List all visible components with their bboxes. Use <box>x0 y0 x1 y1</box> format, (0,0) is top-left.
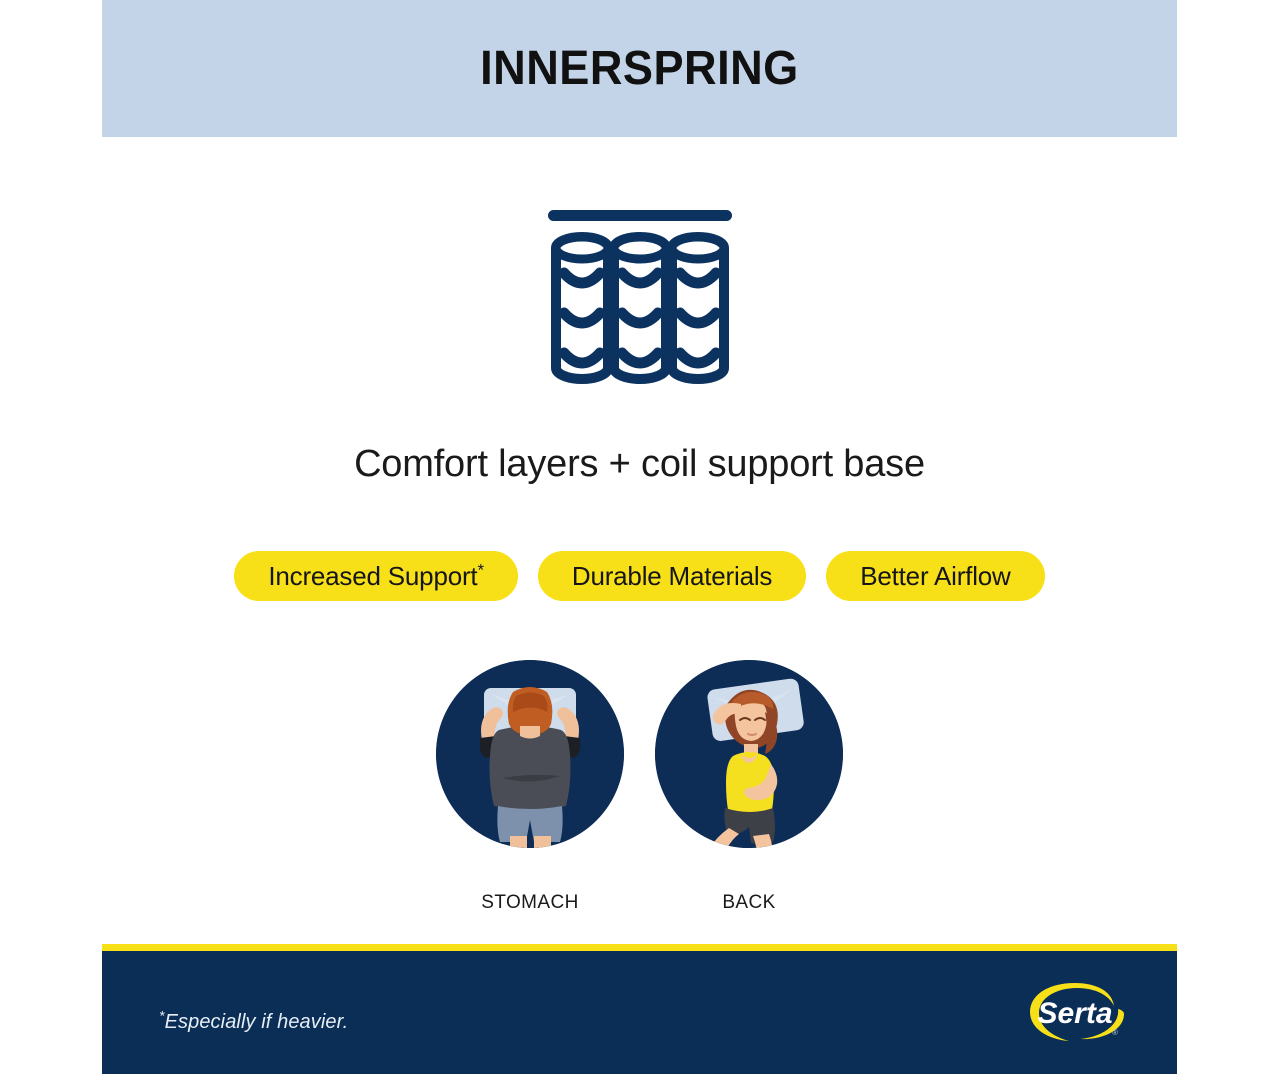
innerspring-info-card: INNERSPRING <box>102 0 1177 1074</box>
feature-pill-row: Increased Support* Durable Materials Bet… <box>102 551 1177 601</box>
sleep-positions: STOMACH <box>102 660 1177 914</box>
feature-pill-increased-support[interactable]: Increased Support* <box>234 551 518 601</box>
header-band: INNERSPRING <box>102 0 1177 137</box>
feature-pill-durable-materials[interactable]: Durable Materials <box>538 551 806 601</box>
footnote-marker: * <box>477 560 483 579</box>
registered-mark: ® <box>1112 1028 1118 1037</box>
coil-icon-container <box>102 200 1177 400</box>
back-sleeper-illustration <box>655 660 843 848</box>
coil-support-icon <box>540 200 740 395</box>
page-title: INNERSPRING <box>480 45 799 93</box>
footnote-text: *Especially if heavier. <box>159 1011 348 1034</box>
sleep-position-back[interactable]: BACK <box>655 660 843 914</box>
feature-pill-better-airflow[interactable]: Better Airflow <box>826 551 1044 601</box>
stomach-sleeper-illustration <box>436 660 624 848</box>
footer-bar: *Especially if heavier. Serta ® <box>102 944 1177 1074</box>
sleep-position-stomach[interactable]: STOMACH <box>436 660 624 914</box>
feature-pill-label: Durable Materials <box>572 561 772 592</box>
subtitle: Comfort layers + coil support base <box>102 443 1177 486</box>
serta-wordmark: Serta <box>1037 997 1112 1030</box>
serta-logo[interactable]: Serta ® <box>1025 979 1125 1047</box>
feature-pill-label: Increased Support* <box>268 561 484 592</box>
sleep-position-label: STOMACH <box>481 892 578 914</box>
feature-pill-label: Better Airflow <box>860 561 1010 592</box>
sleep-position-label: BACK <box>722 892 775 914</box>
